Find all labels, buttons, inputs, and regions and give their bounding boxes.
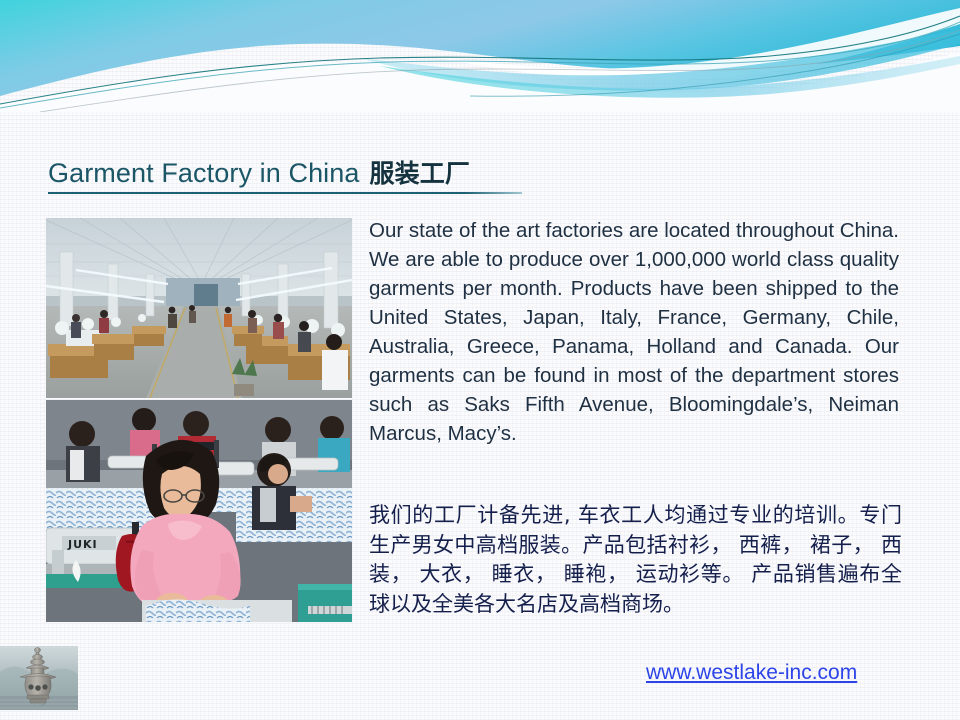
decorative-wave-banner: [0, 0, 960, 112]
english-description-paragraph: Our state of the art factories are locat…: [369, 216, 899, 448]
sewing-workers-photo: JUKI: [46, 400, 352, 622]
page-title: Garment Factory in China服装工厂: [48, 158, 748, 189]
factory-floor-photo: [46, 218, 352, 398]
page-title-english: Garment Factory in China: [48, 158, 360, 188]
svg-text:JUKI: JUKI: [67, 538, 98, 551]
title-underline-rule: [48, 192, 522, 194]
website-link[interactable]: www.westlake-inc.com: [646, 660, 857, 686]
page-title-chinese: 服装工厂: [370, 159, 470, 188]
slide-canvas: Garment Factory in China服装工厂: [0, 0, 960, 720]
chinese-description-paragraph: 我们的工厂计备先进, 车衣工人均通过专业的培训。专门生产男女中高档服装。产品包括…: [369, 501, 902, 619]
west-lake-pagoda-logo: [0, 646, 78, 710]
